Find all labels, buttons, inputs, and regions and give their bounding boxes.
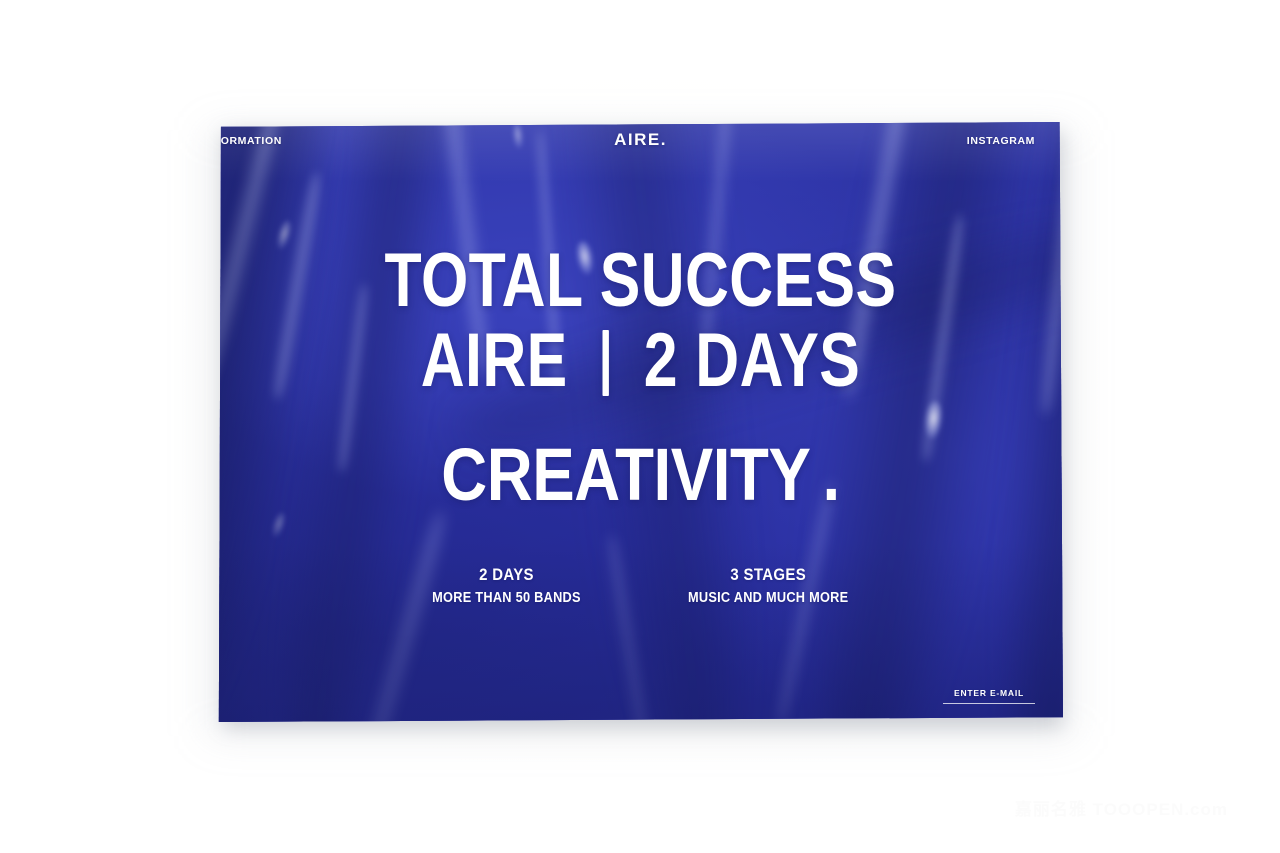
headline-line-2-left: AIRE — [421, 318, 568, 403]
stat-value: 2 DAYS — [432, 565, 581, 585]
nav-link-information[interactable]: INFORMATION — [218, 135, 282, 147]
brand-logo[interactable]: AIRE. — [614, 130, 667, 150]
email-signup-field[interactable]: ENTER E-MAIL — [943, 688, 1035, 704]
headline-line-1: TOTAL SUCCESS — [303, 244, 979, 318]
poster-content: INFORMATION AIRE. INSTAGRAM TOTAL SUCCES… — [218, 122, 1063, 722]
poster-surface: INFORMATION AIRE. INSTAGRAM TOTAL SUCCES… — [218, 122, 1063, 722]
stats-row: 2 DAYS MORE THAN 50 BANDS 3 STAGES MUSIC… — [218, 565, 1063, 606]
headline-line-3-text: CREATIVITY — [441, 433, 810, 516]
site-watermark: 嘉丽名雅 TOOOPEN.com — [1015, 795, 1228, 820]
headline-line-2-right: 2 DAYS — [644, 318, 860, 403]
headline-line-2: AIRE 2 DAYS — [303, 324, 979, 398]
stat-value: 3 STAGES — [688, 565, 849, 585]
headline-block: TOTAL SUCCESS AIRE 2 DAYS CREATIVITY. — [218, 244, 1063, 511]
stat-label: MORE THAN 50 BANDS — [432, 590, 581, 606]
stat-item: 2 DAYS MORE THAN 50 BANDS — [422, 565, 591, 606]
headline-line-3: CREATIVITY. — [277, 439, 1004, 512]
stat-label: MUSIC AND MUCH MORE — [688, 590, 849, 606]
headline-period: . — [823, 439, 840, 512]
email-input-label[interactable]: ENTER E-MAIL — [943, 688, 1035, 698]
poster-mockup: INFORMATION AIRE. INSTAGRAM TOTAL SUCCES… — [218, 122, 1063, 722]
stat-item: 3 STAGES MUSIC AND MUCH MORE — [677, 565, 859, 606]
nav-link-instagram[interactable]: INSTAGRAM — [967, 135, 1035, 147]
page-canvas: INFORMATION AIRE. INSTAGRAM TOTAL SUCCES… — [0, 0, 1280, 853]
email-input-underline — [943, 703, 1035, 704]
vertical-divider-icon — [603, 330, 609, 396]
poster-navbar: INFORMATION AIRE. INSTAGRAM — [218, 122, 1063, 168]
